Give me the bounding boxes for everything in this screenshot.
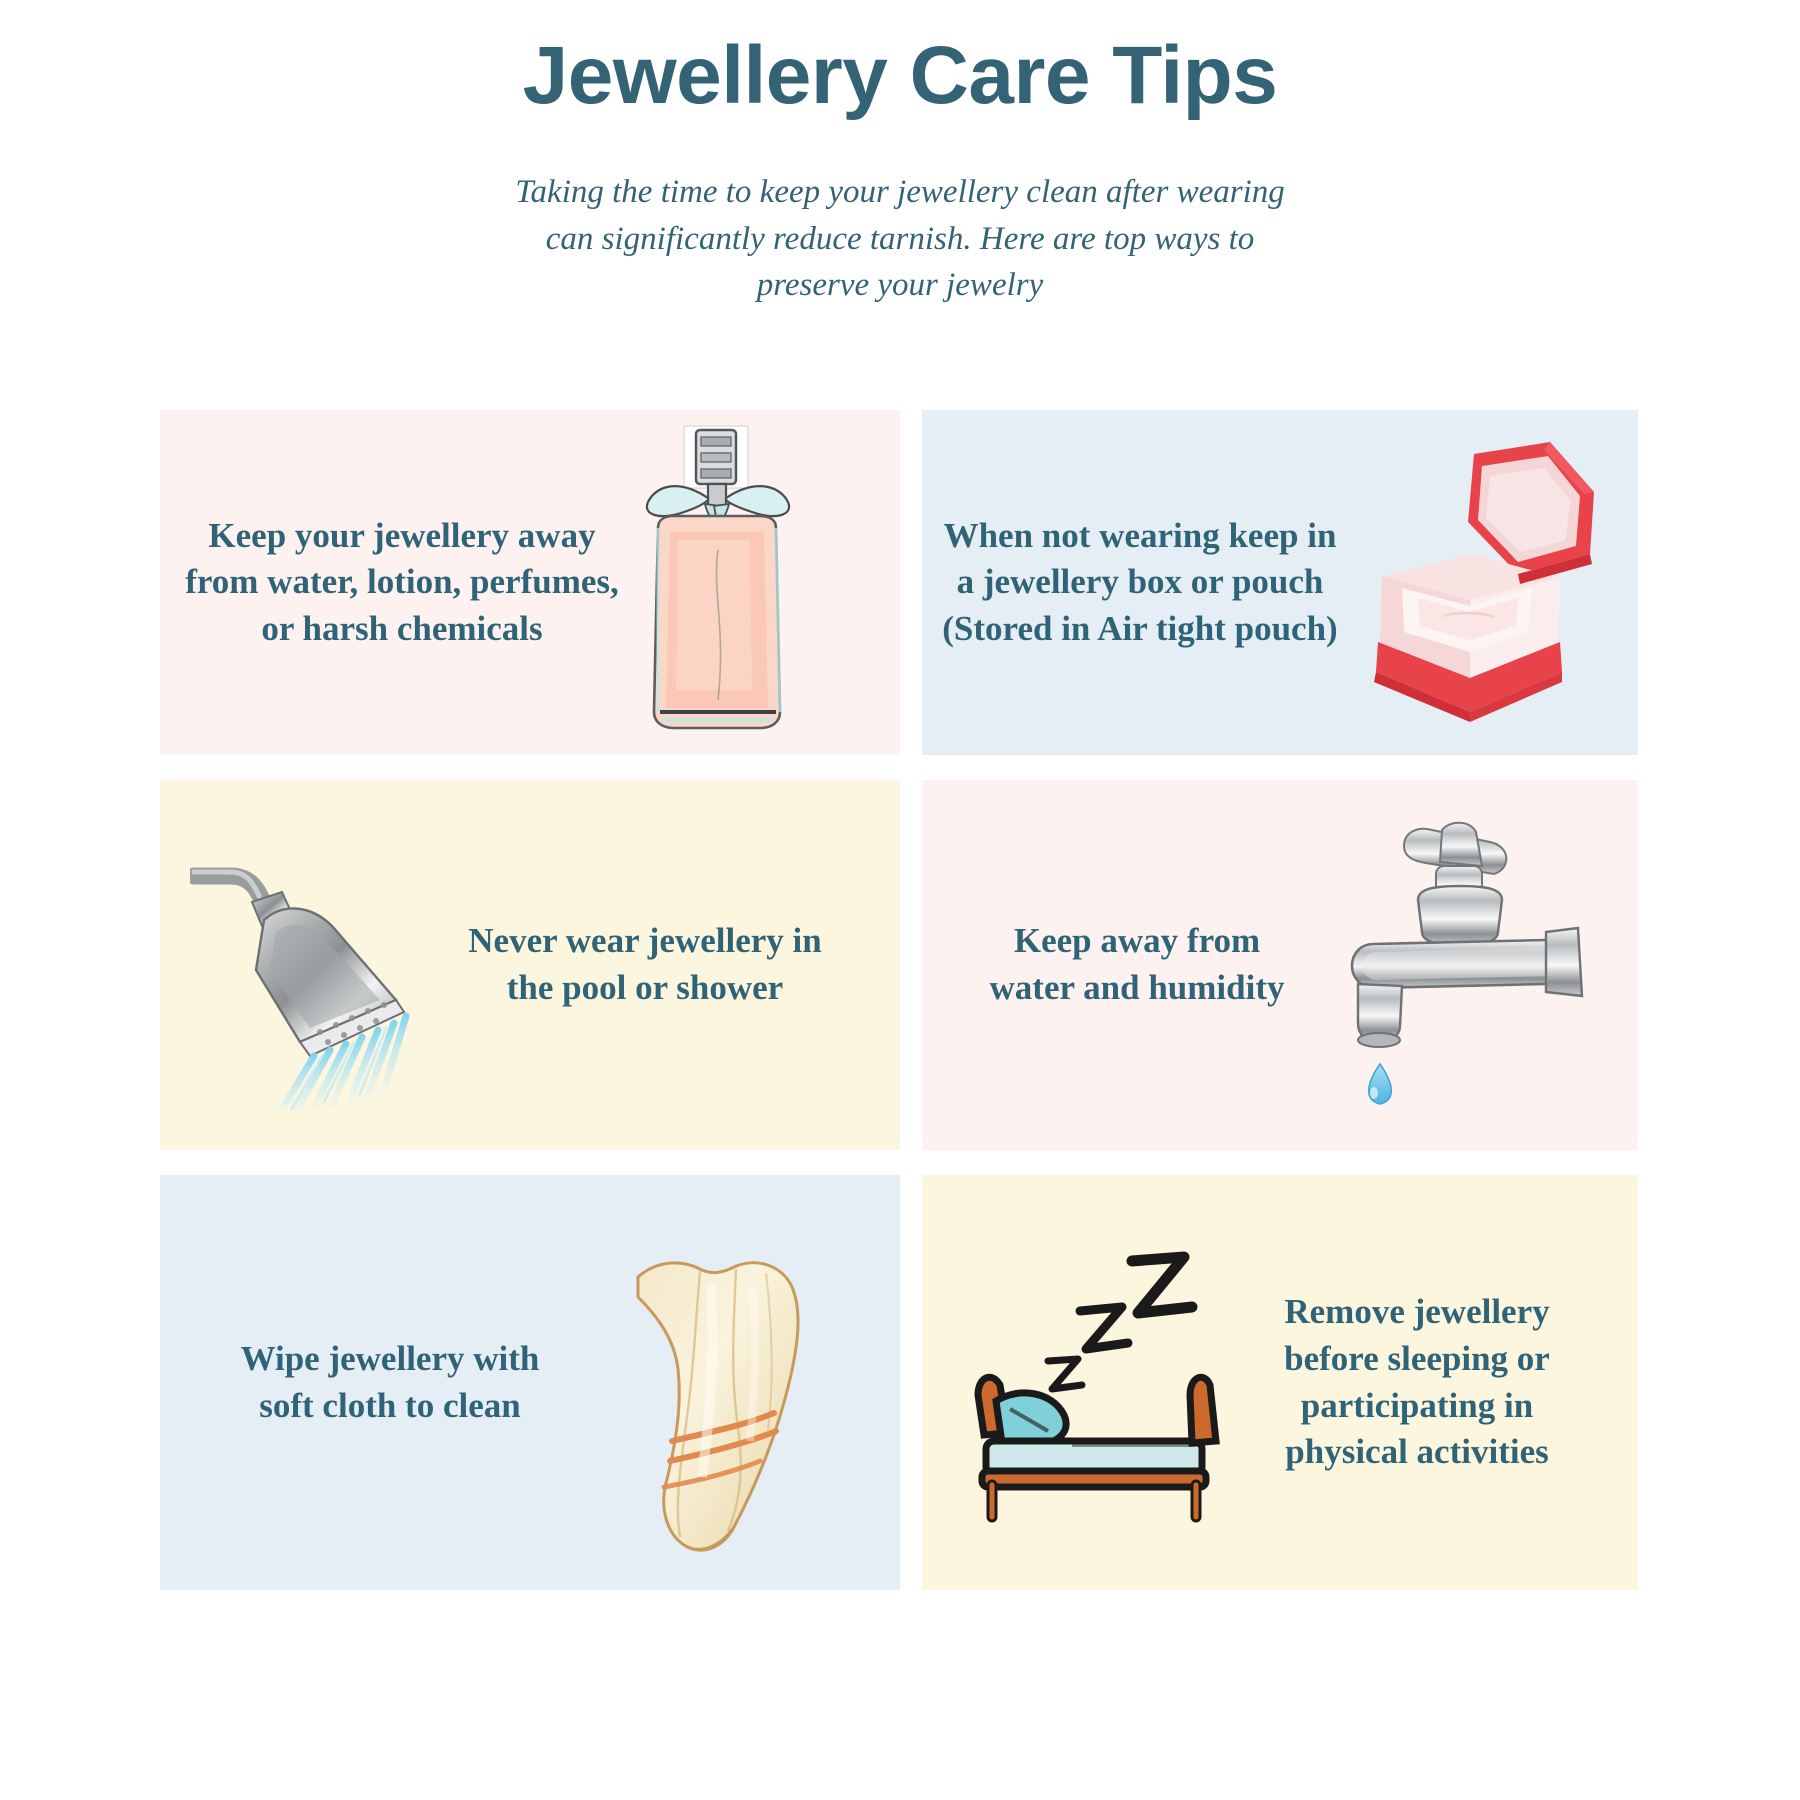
tip-card-3-text: Never wear jewellery in the pool or show… <box>460 918 830 1011</box>
tip-card-6: Remove jewellery before sleeping or part… <box>922 1175 1638 1590</box>
page-header: Jewellery Care Tips Taking the time to k… <box>0 0 1800 309</box>
tip-card-5-text: Wipe jewellery with soft cloth to clean <box>220 1336 560 1429</box>
tips-grid: Keep your jewellery away from water, lot… <box>160 410 1638 1590</box>
faucet-icon <box>1314 812 1604 1112</box>
sleeping-bed-icon <box>952 1245 1252 1525</box>
infographic-page: Jewellery Care Tips Taking the time to k… <box>0 0 1800 1800</box>
tip-card-1-text: Keep your jewellery away from water, lot… <box>182 513 622 653</box>
tip-card-2-text: When not wearing keep in a jewellery box… <box>940 513 1340 653</box>
soft-cloth-icon <box>560 1245 860 1565</box>
tip-card-5: Wipe jewellery with soft cloth to clean <box>160 1175 900 1590</box>
tip-card-1: Keep your jewellery away from water, lot… <box>160 410 900 755</box>
tip-card-4-text: Keep away from water and humidity <box>972 918 1302 1011</box>
tip-card-6-text: Remove jewellery before sleeping or part… <box>1252 1289 1582 1475</box>
tip-card-2: When not wearing keep in a jewellery box… <box>922 410 1638 755</box>
page-subtitle: Taking the time to keep your jewellery c… <box>505 169 1295 310</box>
tip-card-4: Keep away from water and humidity <box>922 780 1638 1150</box>
perfume-bottle-icon <box>600 420 870 740</box>
tip-card-3: Never wear jewellery in the pool or show… <box>160 780 900 1150</box>
page-title: Jewellery Care Tips <box>0 28 1800 125</box>
jewellery-box-icon <box>1322 436 1612 726</box>
shower-head-icon <box>190 850 450 1110</box>
